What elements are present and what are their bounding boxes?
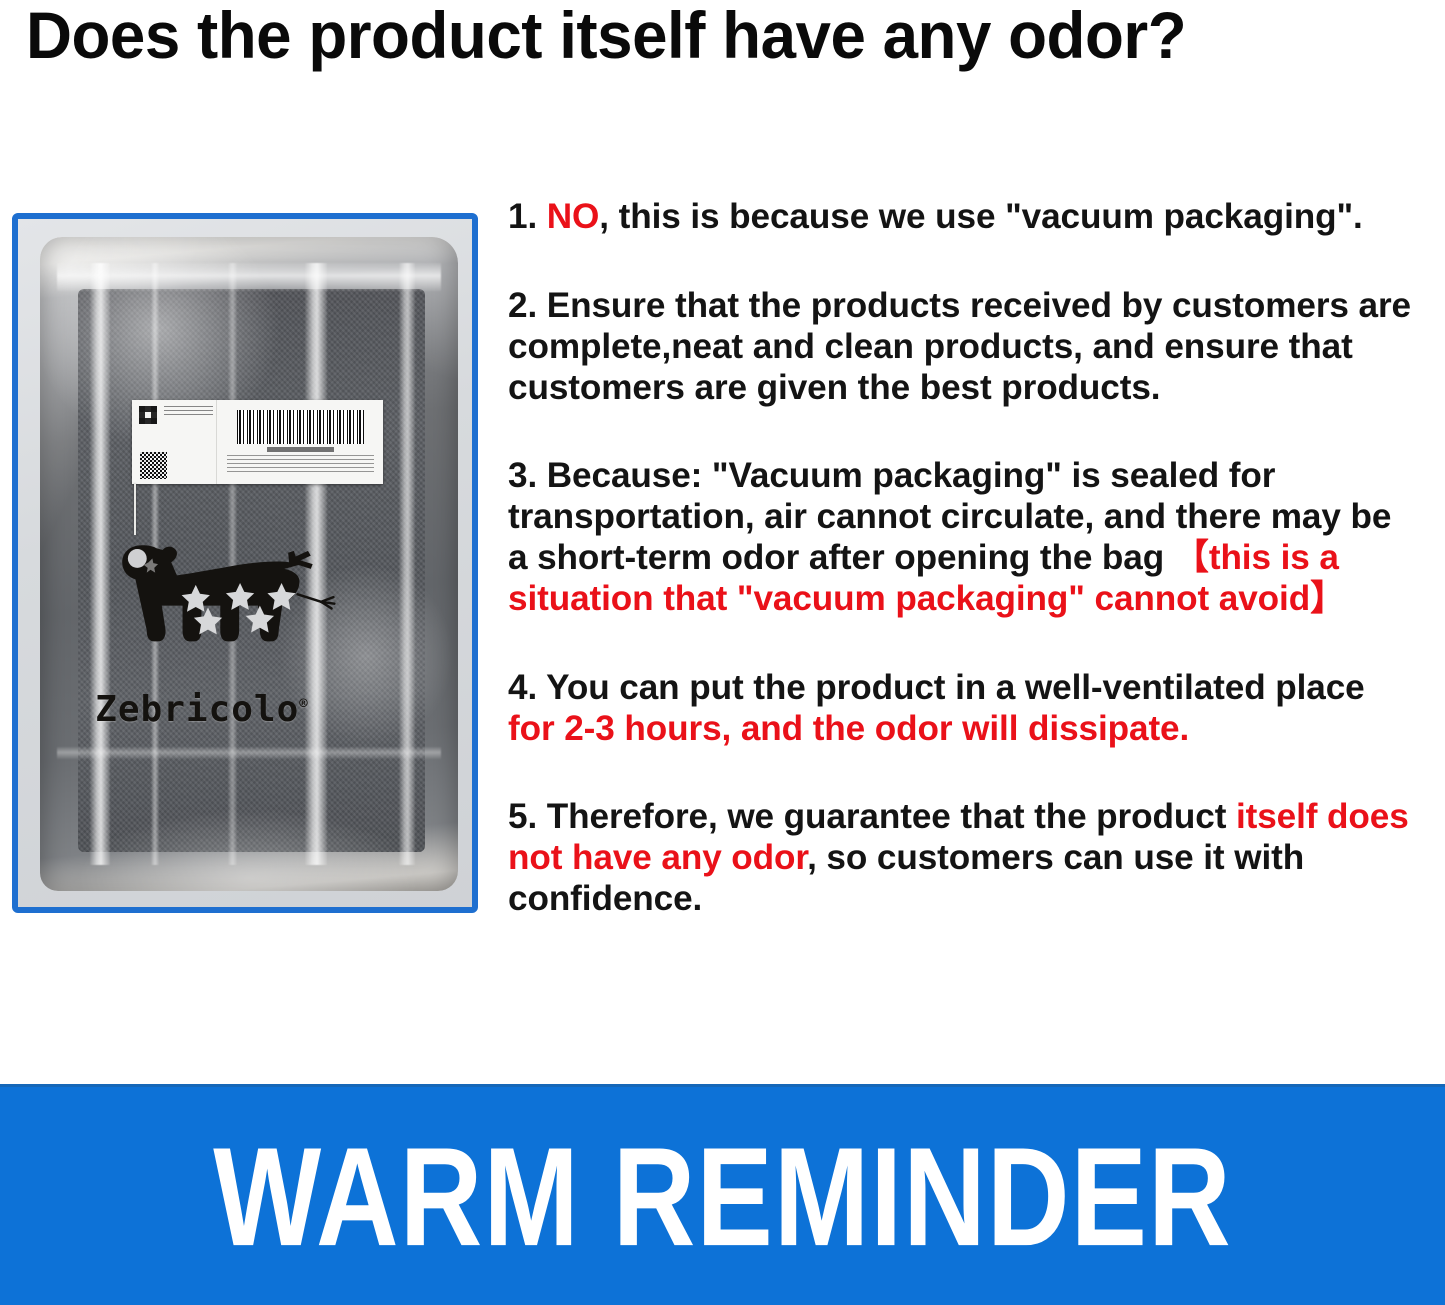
point-4-body: 4. You can put the product in a well-ven… xyxy=(508,667,1365,707)
qr-code-icon xyxy=(140,452,167,479)
list-item-5: 5. Therefore, we guarantee that the prod… xyxy=(508,796,1417,919)
bag-crease-5 xyxy=(399,263,415,865)
point-1-emphasis: NO xyxy=(547,196,600,236)
warm-reminder-banner: WARM REMINDER xyxy=(0,1084,1445,1305)
page-title: Does the product itself have any odor? xyxy=(26,0,1377,74)
shipping-label-description-text xyxy=(227,455,373,472)
brand-wordmark: Zebricolo® xyxy=(95,689,309,730)
point-4-emphasis: for 2-3 hours, and the odor will dissipa… xyxy=(508,708,1189,748)
bag-crease-1 xyxy=(90,263,110,865)
point-2-body: 2. Ensure that the products received by … xyxy=(508,285,1411,407)
datamatrix-code-icon xyxy=(139,406,157,424)
odor-explanation-list: 1. NO, this is because we use "vacuum pa… xyxy=(508,196,1426,919)
point-1-prefix: 1. xyxy=(508,196,547,236)
warm-reminder-text: WARM REMINDER xyxy=(213,1127,1232,1267)
registered-trademark-icon: ® xyxy=(299,696,308,712)
point-5-body-start: 5. Therefore, we guarantee that the prod… xyxy=(508,796,1236,836)
brand-name: Zebricolo xyxy=(95,689,299,730)
giraffe-logo xyxy=(109,508,354,694)
list-item-2: 2. Ensure that the products received by … xyxy=(508,285,1417,408)
barcode-icon xyxy=(237,410,363,444)
bag-seal-top xyxy=(57,263,442,291)
shipping-label-right-panel xyxy=(217,400,383,484)
list-item-4: 4. You can put the product in a well-ven… xyxy=(508,667,1417,749)
bag-seal-lower xyxy=(57,747,442,759)
list-item-1: 1. NO, this is because we use "vacuum pa… xyxy=(508,196,1417,237)
shipping-label-microtext xyxy=(164,406,214,418)
list-item-3: 3. Because: "Vacuum packaging" is sealed… xyxy=(508,455,1417,619)
barcode-number xyxy=(267,447,334,452)
shipping-label-left-panel xyxy=(132,400,218,484)
product-photo: Zebricolo® xyxy=(18,219,472,907)
shipping-label xyxy=(132,400,384,484)
product-photo-frame: Zebricolo® xyxy=(12,213,478,913)
point-1-body: , this is because we use "vacuum packagi… xyxy=(599,196,1362,236)
